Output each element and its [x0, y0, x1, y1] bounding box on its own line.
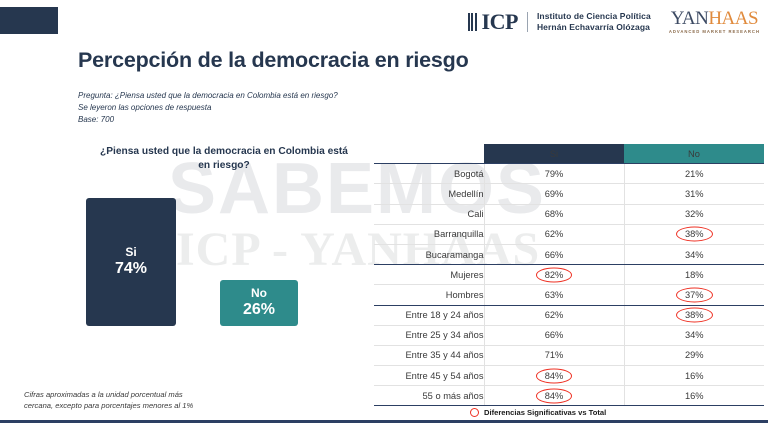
chart-question-label: ¿Piensa usted que la democracia en Colom…	[94, 145, 354, 173]
table-cell-si: 84%	[484, 366, 624, 386]
table-row: 55 o más años84%16%	[374, 386, 764, 406]
table-row-label: Bucaramanga	[374, 244, 484, 264]
table-header-no: No	[624, 144, 764, 164]
icp-logo: ICP Instituto de Ciencia Política Hernán…	[468, 11, 651, 33]
icp-bars-icon	[468, 13, 477, 31]
table-cell-no: 38%	[624, 224, 764, 244]
table-cell-no: 38%	[624, 305, 764, 325]
icp-logo-divider	[527, 12, 528, 32]
footnote-line2: cercana, excepto para porcentajes menore…	[24, 401, 193, 412]
footnote: Cifras aproximadas a la unidad porcentua…	[24, 390, 193, 411]
table-cell-si: 66%	[484, 244, 624, 264]
yanhaas-logo-tagline: ADVANCED MARKET RESEARCH	[669, 30, 760, 34]
table-cell-no: 21%	[624, 164, 764, 184]
significant-value-si: 82%	[536, 270, 573, 280]
significant-value-si: 84%	[536, 371, 573, 381]
table-row-label: Entre 18 y 24 años	[374, 305, 484, 325]
value-no: 31%	[685, 189, 704, 199]
bar-no-value: 26%	[243, 301, 275, 319]
table-row: Hombres63%37%	[374, 285, 764, 305]
value-no: 32%	[685, 209, 704, 219]
icp-logo-text-line1: Instituto de Ciencia Política	[537, 11, 651, 21]
question-meta-block: Pregunta: ¿Piensa usted que la democraci…	[78, 90, 338, 126]
value-si: 71%	[545, 350, 564, 360]
value-si: 62%	[545, 229, 564, 239]
table-header-blank	[374, 144, 484, 164]
table-cell-no: 34%	[624, 244, 764, 264]
header-logos: ICP Instituto de Ciencia Política Hernán…	[468, 9, 760, 34]
value-no: 29%	[685, 350, 704, 360]
chart-panel: ¿Piensa usted que la democracia en Colom…	[74, 145, 374, 326]
table-row: Bucaramanga66%34%	[374, 244, 764, 264]
table-row-label: 55 o más años	[374, 386, 484, 406]
red-circle-icon	[470, 408, 479, 417]
significant-value-no: 38%	[676, 229, 713, 239]
table-body: Bogotá79%21%Medellín69%31%Cali68%32%Barr…	[374, 164, 764, 406]
table-cell-si: 68%	[484, 204, 624, 224]
table-row-label: Barranquilla	[374, 224, 484, 244]
table-row-label: Entre 35 y 44 años	[374, 345, 484, 365]
table-cell-no: 16%	[624, 366, 764, 386]
table-cell-si: 69%	[484, 184, 624, 204]
bar-si-value: 74%	[115, 260, 147, 278]
significant-value-no: 37%	[676, 290, 713, 300]
table-row: Medellín69%31%	[374, 184, 764, 204]
footnote-line1: Cifras aproximadas a la unidad porcentua…	[24, 390, 193, 401]
yanhaas-logo-part1: YAN	[671, 8, 709, 29]
table-row: Entre 45 y 54 años84%16%	[374, 366, 764, 386]
table-row-label: Hombres	[374, 285, 484, 305]
table-cell-si: 62%	[484, 305, 624, 325]
yanhaas-logo-wordmark: YANHAAS	[669, 9, 760, 28]
value-si: 63%	[545, 290, 564, 300]
table-row: Bogotá79%21%	[374, 164, 764, 184]
yanhaas-logo-part2: HAAS	[708, 8, 758, 29]
corner-accent-block	[0, 7, 58, 34]
table-cell-si: 66%	[484, 325, 624, 345]
value-si: 69%	[545, 189, 564, 199]
table-row: Entre 25 y 34 años66%34%	[374, 325, 764, 345]
value-no: 18%	[685, 270, 704, 280]
table-cell-no: 32%	[624, 204, 764, 224]
bar-si-label: Si	[125, 245, 136, 259]
table-cell-si: 84%	[484, 386, 624, 406]
table-row-label: Mujeres	[374, 265, 484, 285]
value-no: 34%	[685, 330, 704, 340]
icp-logo-text: Instituto de Ciencia Política Hernán Ech…	[537, 11, 651, 32]
table-cell-no: 34%	[624, 325, 764, 345]
value-no: 16%	[685, 371, 704, 381]
table-cell-no: 37%	[624, 285, 764, 305]
significant-value-si: 84%	[536, 391, 573, 401]
icp-logo-mark: ICP	[482, 11, 518, 33]
table-cell-no: 16%	[624, 386, 764, 406]
table-cell-no: 29%	[624, 345, 764, 365]
table-cell-si: 62%	[484, 224, 624, 244]
table-cell-no: 31%	[624, 184, 764, 204]
table-row: Mujeres82%18%	[374, 265, 764, 285]
table-row: Barranquilla62%38%	[374, 224, 764, 244]
bar-no: No 26%	[220, 280, 298, 326]
value-si: 68%	[545, 209, 564, 219]
bottom-rule	[0, 420, 768, 423]
table-header-si: Si	[484, 144, 624, 164]
value-si: 66%	[545, 250, 564, 260]
bar-no-label: No	[251, 286, 267, 300]
bars-area: Si 74% No 26%	[74, 181, 374, 326]
table-row-label: Entre 45 y 54 años	[374, 366, 484, 386]
table-cell-no: 18%	[624, 265, 764, 285]
table-row: Cali68%32%	[374, 204, 764, 224]
table-cell-si: 79%	[484, 164, 624, 184]
value-no: 21%	[685, 169, 704, 179]
table-cell-si: 71%	[484, 345, 624, 365]
value-no: 16%	[685, 391, 704, 401]
yanhaas-logo: YANHAAS ADVANCED MARKET RESEARCH	[669, 9, 760, 34]
method-text: Se leyeron las opciones de respuesta	[78, 102, 338, 114]
table-row-label: Bogotá	[374, 164, 484, 184]
base-text: Base: 700	[78, 114, 338, 126]
question-text: Pregunta: ¿Piensa usted que la democraci…	[78, 90, 338, 102]
icp-logo-text-line2: Hernán Echavarría Olózaga	[537, 22, 650, 32]
table-row: Entre 18 y 24 años62%38%	[374, 305, 764, 325]
table-row-label: Entre 25 y 34 años	[374, 325, 484, 345]
page-title: Percepción de la democracia en riesgo	[78, 48, 469, 73]
legend-label: Diferencias Significativas vs Total	[484, 408, 606, 417]
table-header: Si No	[374, 144, 764, 164]
bar-si: Si 74%	[86, 198, 176, 326]
legend: Diferencias Significativas vs Total	[470, 408, 606, 417]
breakdown-table: Si No Bogotá79%21%Medellín69%31%Cali68%3…	[374, 144, 764, 406]
table-cell-si: 63%	[484, 285, 624, 305]
table-cell-si: 82%	[484, 265, 624, 285]
table-row: Entre 35 y 44 años71%29%	[374, 345, 764, 365]
value-si: 66%	[545, 330, 564, 340]
value-si: 79%	[545, 169, 564, 179]
value-no: 34%	[685, 250, 704, 260]
significant-value-no: 38%	[676, 310, 713, 320]
table-row-label: Cali	[374, 204, 484, 224]
value-si: 62%	[545, 310, 564, 320]
table-row-label: Medellín	[374, 184, 484, 204]
